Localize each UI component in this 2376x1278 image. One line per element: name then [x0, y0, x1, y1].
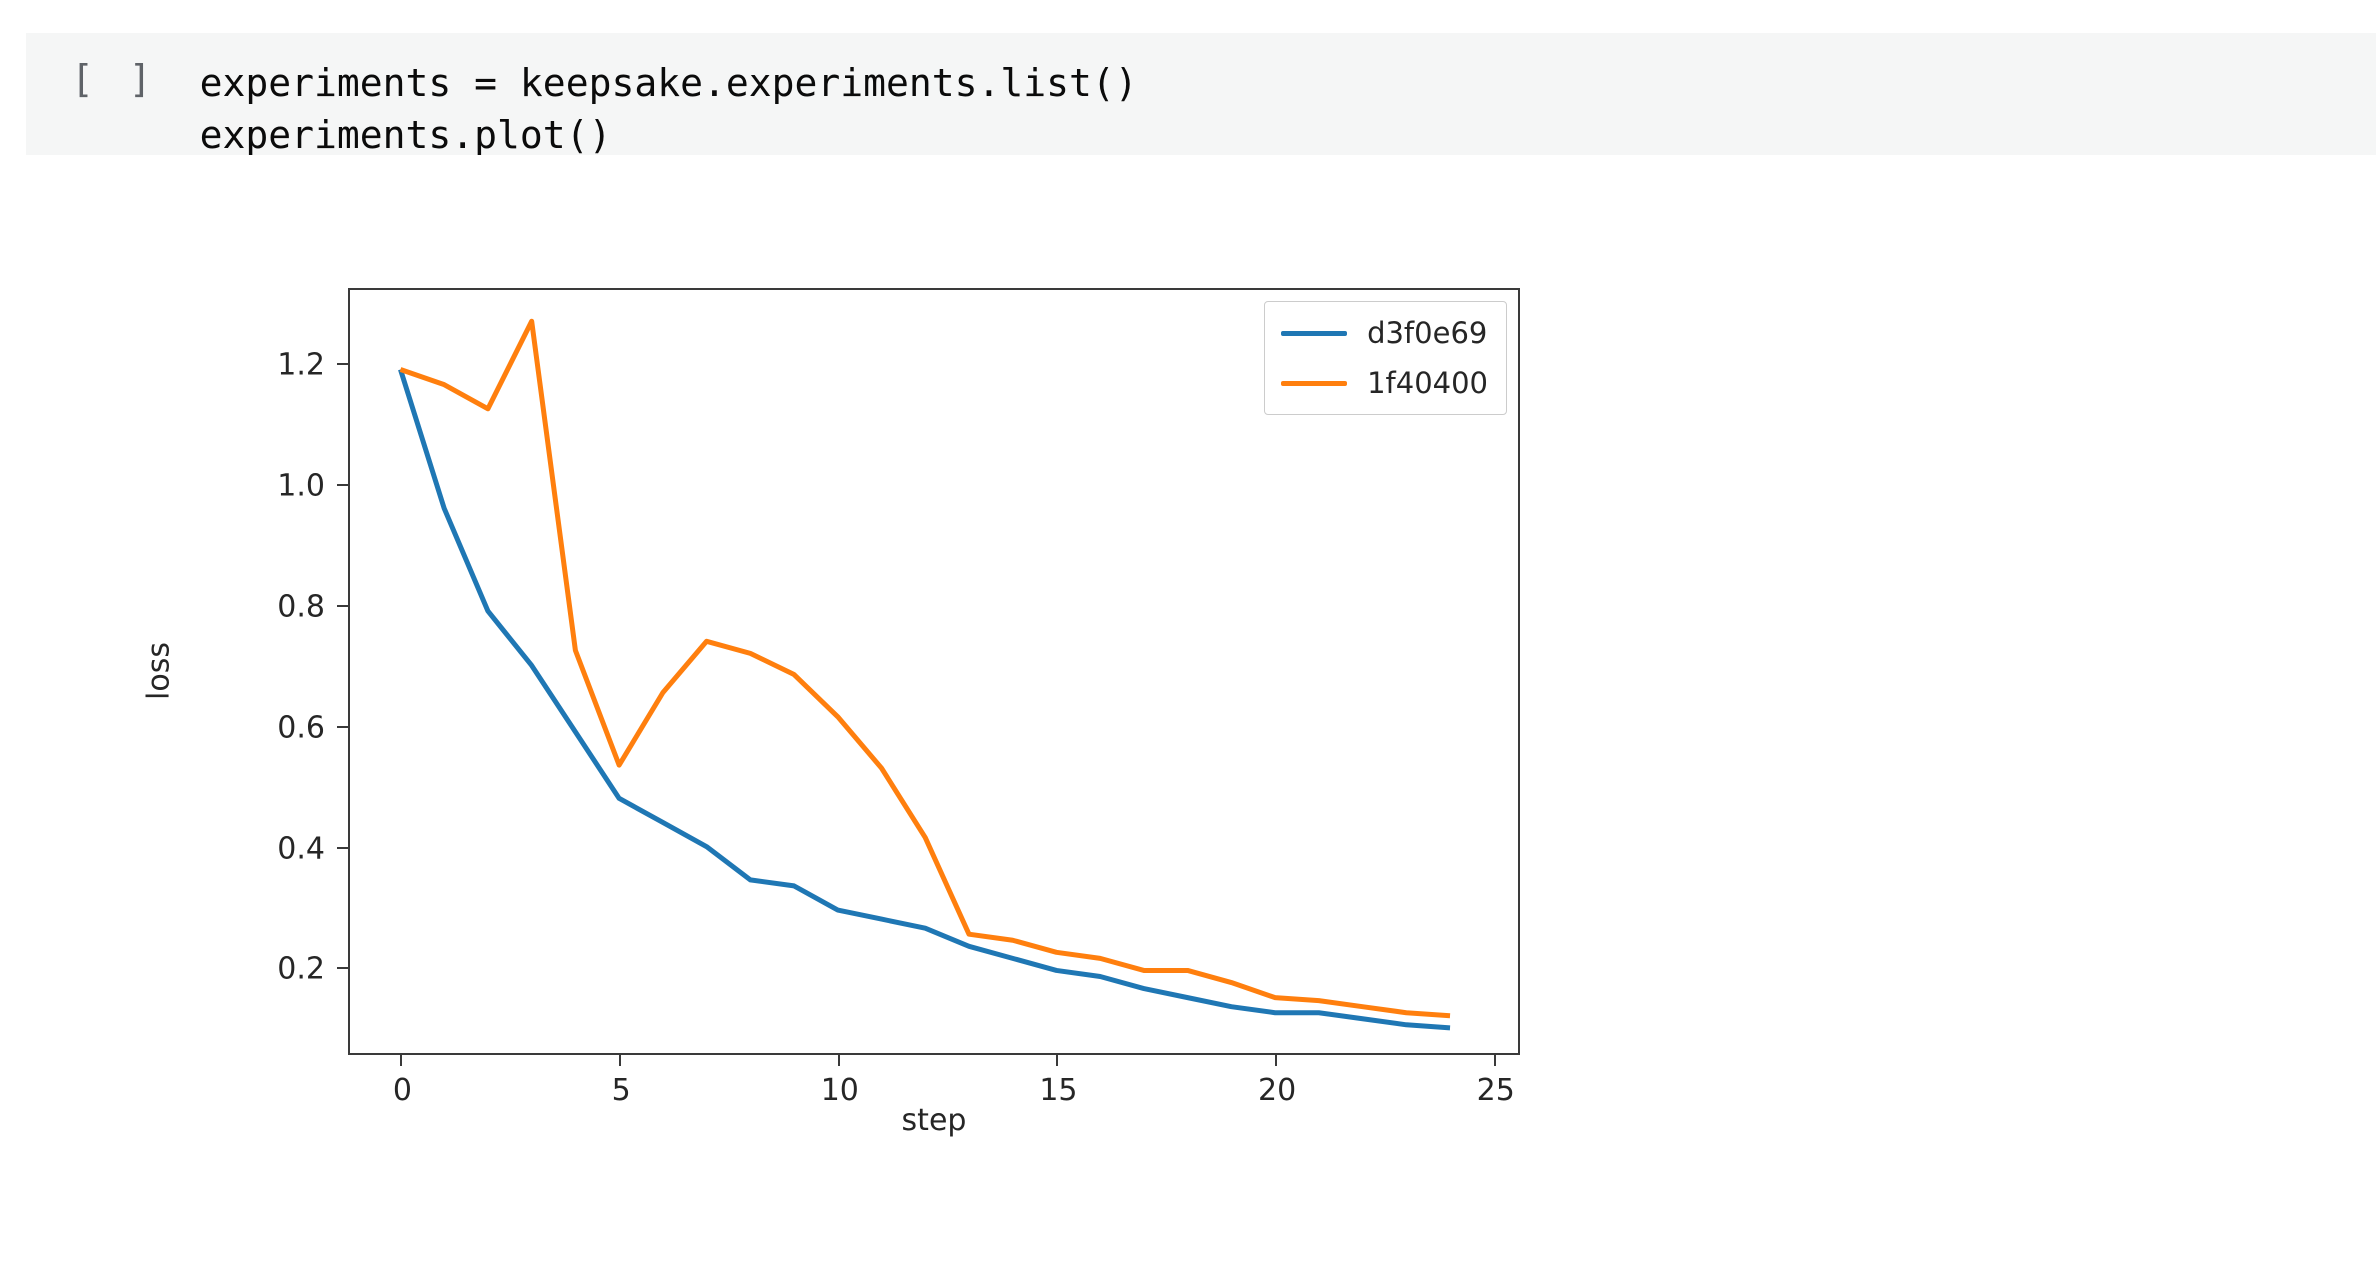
chart-legend: d3f0e691f40400: [1264, 301, 1507, 415]
legend-color-swatch: [1281, 381, 1347, 386]
y-tick-label: 0.8: [277, 590, 325, 625]
legend-label: d3f0e69: [1367, 316, 1487, 350]
figure-output: 0.20.40.60.81.01.2 0510152025 loss step …: [0, 155, 2376, 1278]
y-tick-label: 0.6: [277, 710, 325, 745]
x-tick: 20: [1275, 1055, 1277, 1066]
y-tick-label: 0.2: [277, 952, 325, 987]
code-line-2: experiments.plot(): [200, 113, 612, 157]
y-axis-label: loss: [141, 642, 176, 700]
cell-run-prompt[interactable]: [ ]: [71, 57, 158, 101]
notebook-page: [ ] experiments = keepsake.experiments.l…: [0, 0, 2376, 1278]
x-tick: 0: [400, 1055, 402, 1066]
legend-item: d3f0e69: [1281, 316, 1488, 350]
y-tick-label: 0.4: [277, 831, 325, 866]
code-line-1: experiments = keepsake.experiments.list(…: [200, 61, 1138, 105]
x-tick: 25: [1494, 1055, 1496, 1066]
legend-label: 1f40400: [1367, 366, 1488, 400]
code-cell[interactable]: [ ] experiments = keepsake.experiments.l…: [26, 33, 2376, 155]
y-tick-label: 1.0: [277, 469, 325, 504]
y-tick: 0.4: [337, 847, 348, 849]
y-tick: 1.0: [337, 484, 348, 486]
x-tick: 15: [1056, 1055, 1058, 1066]
legend-item: 1f40400: [1281, 366, 1488, 400]
x-axis-label: step: [348, 1103, 1520, 1138]
series-line-1f40400: [400, 321, 1450, 1016]
plot-area: 0.20.40.60.81.01.2 0510152025 loss step …: [348, 288, 1520, 1055]
x-tick: 10: [838, 1055, 840, 1066]
series-line-d3f0e69: [400, 370, 1450, 1028]
legend-color-swatch: [1281, 331, 1347, 336]
y-tick: 0.2: [337, 967, 348, 969]
y-tick-label: 1.2: [277, 348, 325, 383]
y-tick: 1.2: [337, 363, 348, 365]
code-editor[interactable]: experiments = keepsake.experiments.list(…: [200, 57, 1138, 161]
x-tick: 5: [619, 1055, 621, 1066]
y-tick: 0.6: [337, 726, 348, 728]
y-tick: 0.8: [337, 605, 348, 607]
